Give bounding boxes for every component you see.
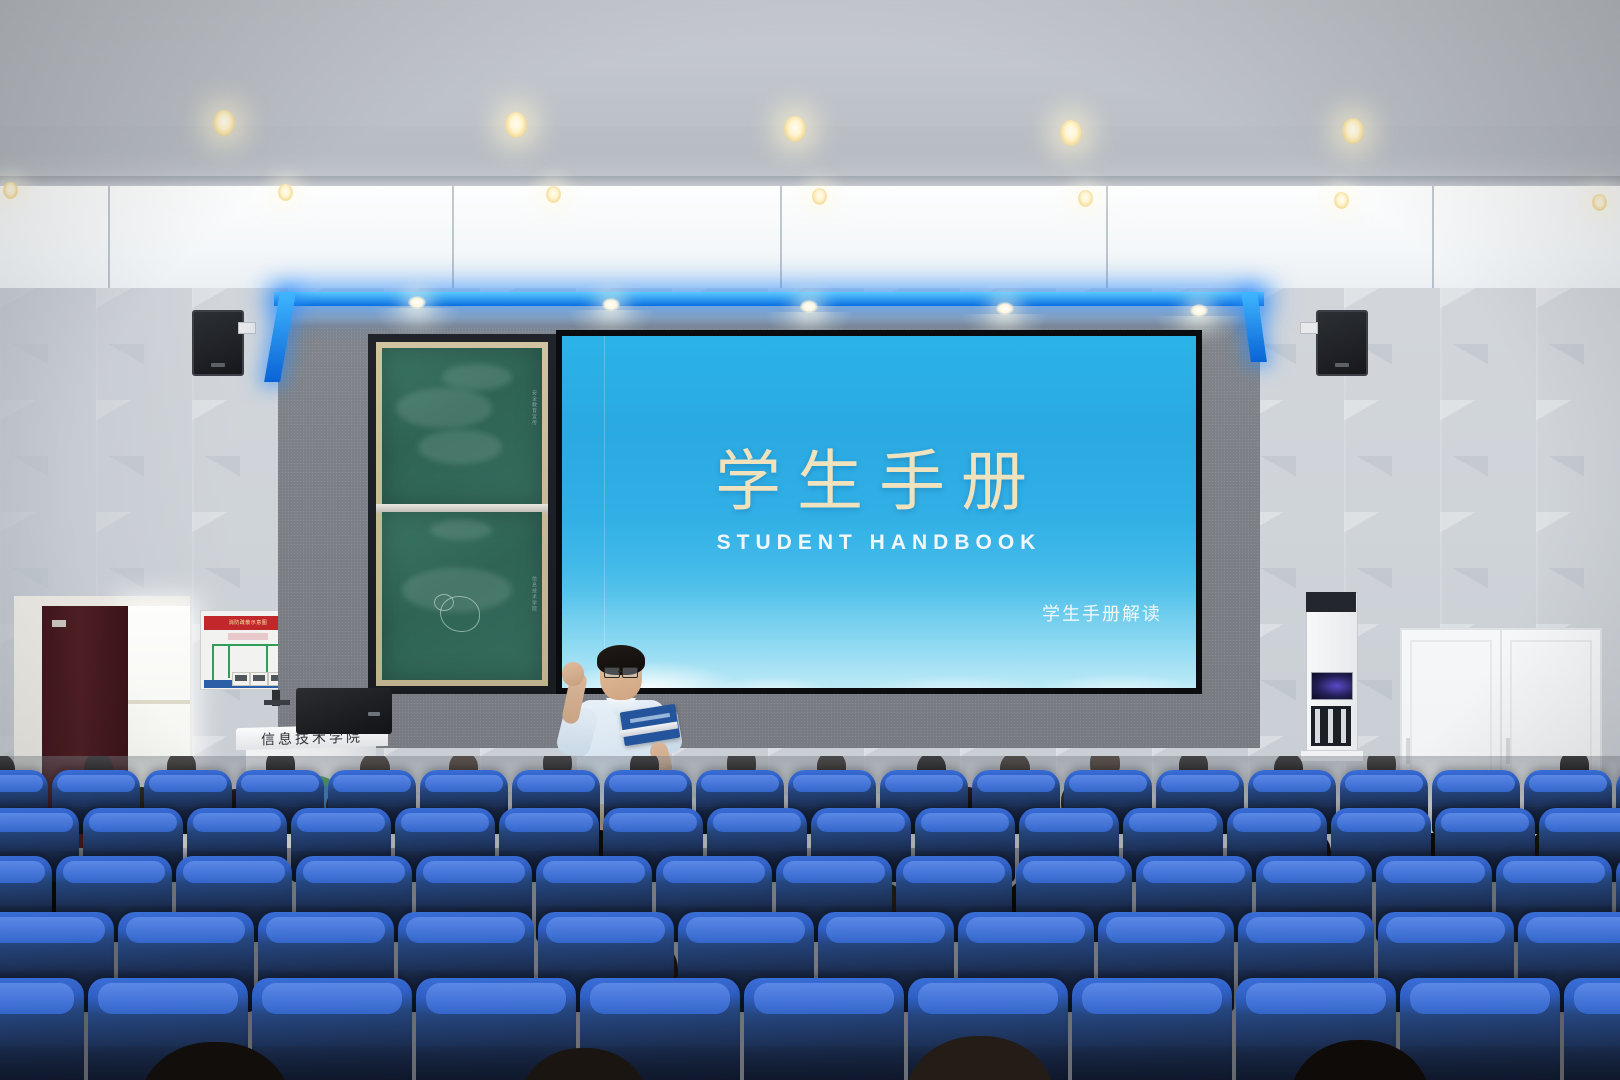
ceiling-downlight-icon	[278, 184, 293, 201]
ceiling-upper-slab	[0, 0, 1620, 126]
panel-seam	[452, 186, 454, 304]
ceiling-downlight-icon	[546, 186, 561, 203]
blackboard-notice-text: 安全教育宣传	[531, 390, 538, 450]
poster-subtitle-bar	[228, 633, 268, 640]
speaker-bracket	[1300, 322, 1318, 334]
ceiling-downlight-icon	[3, 182, 18, 199]
speaker-bracket	[238, 322, 256, 334]
glasses-icon	[604, 667, 620, 678]
control-unit-display[interactable]	[1311, 672, 1353, 700]
av-equipment-case	[296, 688, 392, 734]
glasses-bridge	[618, 671, 623, 672]
ceiling-downlight-icon	[1342, 118, 1364, 144]
chalk-doodle-head	[434, 594, 454, 611]
ceiling-downlight-icon	[1078, 190, 1093, 207]
control-unit-vents	[1311, 706, 1351, 746]
ceiling-downlight-icon	[1060, 120, 1082, 146]
ceiling-downlight-icon	[1592, 194, 1607, 211]
glasses-icon	[622, 667, 638, 678]
auditorium-seat[interactable]	[252, 978, 412, 1080]
equipment-badge	[368, 712, 380, 716]
ceiling-downlight-icon	[812, 188, 827, 205]
panel-seam	[780, 186, 782, 304]
ceiling-downlight-icon	[213, 110, 235, 136]
light-switch[interactable]	[232, 672, 250, 686]
ceiling-downlight-icon	[1334, 192, 1349, 209]
auditorium-seat[interactable]	[1072, 978, 1232, 1080]
light-switch[interactable]	[250, 672, 268, 686]
ceiling-downlight-icon	[784, 116, 806, 142]
wall-speaker-left	[192, 310, 244, 376]
auditorium-seat[interactable]	[744, 978, 904, 1080]
microphone-arm	[264, 700, 290, 705]
blackboard-panel-upper: 安全教育宣传	[382, 348, 542, 506]
lecture-hall-photo: 消防疏散示意图 安全教育宣传	[0, 0, 1620, 1080]
presentation-screen: 学生手册 STUDENT HANDBOOK 学生手册解读	[562, 336, 1196, 688]
slide-title-cn: 学生手册	[562, 448, 1196, 514]
auditorium-seat[interactable]	[0, 978, 84, 1080]
auditorium-seat[interactable]	[1400, 978, 1560, 1080]
poster-diagram-line	[228, 644, 230, 678]
blackboard-notice-text: 信息技术学院	[531, 576, 538, 642]
ceiling-downlight-icon	[505, 112, 527, 138]
slide-note-cn: 学生手册解读	[1042, 600, 1162, 626]
control-unit-top-cap	[1306, 592, 1356, 612]
panel-seam	[1106, 186, 1108, 304]
wall-speaker-right	[1316, 310, 1368, 376]
door-plate	[52, 620, 66, 627]
auditorium-seat[interactable]	[1564, 978, 1620, 1080]
presenter-hand-left	[562, 662, 584, 686]
window-mullion	[128, 700, 190, 704]
audience-seating-area	[0, 756, 1620, 1080]
slide-cloud-graphic	[562, 570, 1196, 688]
panel-seam	[1432, 186, 1434, 304]
slide-title-en: STUDENT HANDBOOK	[562, 531, 1196, 555]
luminous-ceiling-panel	[0, 186, 1620, 304]
panel-seam	[108, 186, 110, 304]
